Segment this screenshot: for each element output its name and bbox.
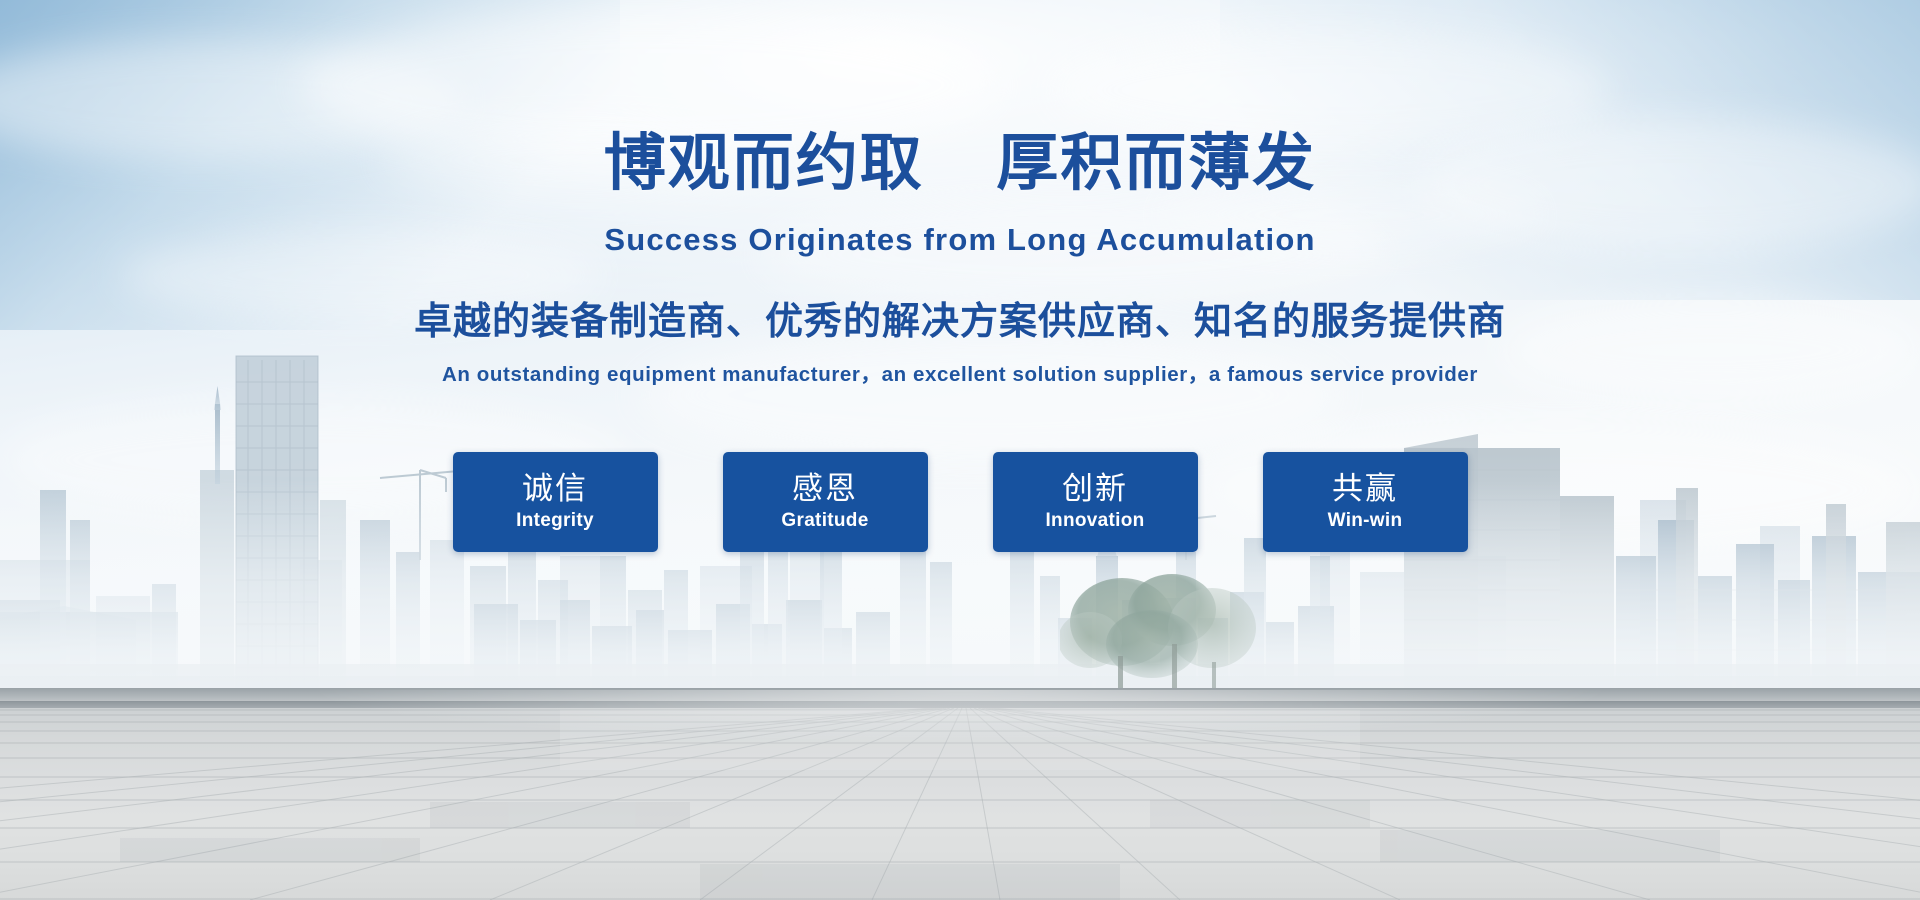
headline-chinese-part2: 厚积而薄发 [996,129,1316,198]
subheadline-english: An outstanding equipment manufacturer，an… [0,357,1920,387]
value-box-label-cn: 创新 [1062,472,1128,506]
value-box-label-cn: 诚信 [522,472,588,506]
value-box-label-en: Innovation [1045,510,1144,532]
core-values-row: 诚信 Integrity 感恩 Gratitude 创新 Innovation … [0,452,1920,552]
value-box-winwin[interactable]: 共赢 Win-win [1263,452,1468,552]
banner-content: 博观而约取 厚积而薄发 Success Originates from Long… [0,0,1920,900]
value-box-label-en: Win-win [1328,510,1403,532]
headline-english: Success Originates from Long Accumulatio… [0,222,1920,258]
value-box-label-cn: 共赢 [1332,472,1398,506]
subheadline-chinese: 卓越的装备制造商、优秀的解决方案供应商、知名的服务提供商 [0,290,1920,345]
value-box-label-en: Gratitude [781,510,868,532]
value-box-innovation[interactable]: 创新 Innovation [993,452,1198,552]
value-box-label-cn: 感恩 [792,472,858,506]
value-box-label-en: Integrity [516,510,594,532]
corporate-banner: 博观而约取 厚积而薄发 Success Originates from Long… [0,0,1920,900]
value-box-gratitude[interactable]: 感恩 Gratitude [723,452,928,552]
value-box-integrity[interactable]: 诚信 Integrity [453,452,658,552]
headline-chinese: 博观而约取 厚积而薄发 [0,112,1920,202]
headline-chinese-part1: 博观而约取 [604,129,924,198]
